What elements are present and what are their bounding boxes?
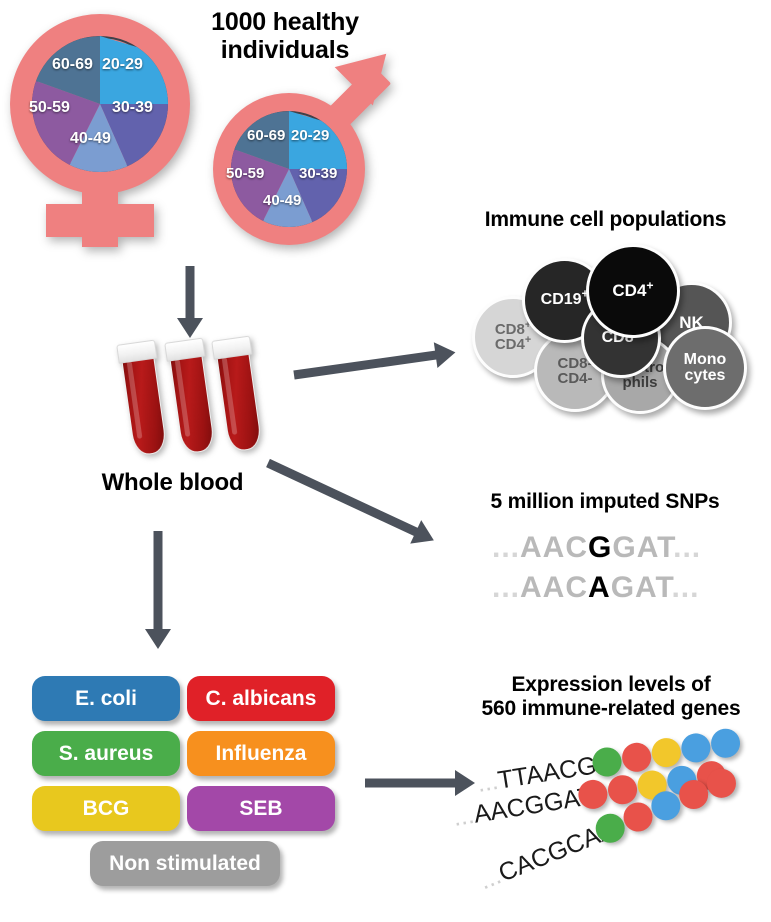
stimulus-seb[interactable]: SEB: [187, 786, 335, 831]
expression-bead: [620, 741, 653, 774]
male-symbol: 20-29 30-39 40-49 50-59 60-69: [205, 55, 420, 250]
pie-label-50-59: 50-59: [226, 165, 264, 182]
arrow-cohort-to-blood: [177, 266, 203, 338]
stimulus-s-aureus[interactable]: S. aureus: [32, 731, 180, 776]
snp-suffix: ...: [671, 571, 699, 604]
snp-sequence-row: ...AACGGAT...: [492, 531, 701, 565]
whole-blood-label: Whole blood: [80, 470, 265, 497]
cohort-title-line1: 1000 healthy: [170, 8, 400, 36]
female-symbol-crossbar: [46, 204, 154, 237]
immune-cell-label: CD19+: [541, 292, 589, 308]
immune-cell-cluster: CD8+CD4+ CD19+ CD4+ NK CD8+ Monocytes Ne…: [455, 240, 765, 415]
pie-label-20-29: 20-29: [102, 56, 143, 74]
arrow-shaft: [154, 531, 163, 631]
stimulus-c-albicans[interactable]: C. albicans: [187, 676, 335, 721]
arrow-head: [177, 318, 203, 338]
snp-prefix: ...: [492, 531, 520, 564]
expression-bead: [650, 736, 683, 769]
figure-canvas: 1000 healthy individuals 20-29 30-39 40-…: [0, 0, 771, 922]
immune-cell-cd4p: CD4+: [586, 244, 680, 338]
pie-label-40-49: 40-49: [70, 130, 111, 148]
arrow-shaft: [266, 459, 419, 537]
stimulus-non-stimulated[interactable]: Non stimulated: [90, 841, 280, 886]
snp-right: GAT: [611, 571, 672, 604]
snp-prefix: ...: [492, 571, 520, 604]
snp-variant-allele: G: [588, 531, 612, 564]
snp-sequence-row: ...AACAGAT...: [492, 571, 699, 605]
arrow-blood-to-snps: [263, 451, 446, 555]
immune-cell-monocytes: Monocytes: [663, 326, 747, 410]
stimulus-influenza[interactable]: Influenza: [187, 731, 335, 776]
arrow-shaft: [365, 779, 457, 788]
snp-left: AAC: [520, 571, 588, 604]
pie-label-30-39: 30-39: [112, 99, 153, 117]
pie-label-50-59: 50-59: [29, 99, 70, 117]
blood-tube: [214, 335, 267, 454]
arrow-shaft: [186, 266, 195, 320]
arrow-head: [434, 339, 457, 368]
female-symbol: 20-29 30-39 40-49 50-59 60-69: [8, 12, 193, 247]
pie-label-60-69: 60-69: [52, 56, 93, 74]
blood-tube: [119, 339, 172, 458]
expression-bead: [709, 727, 742, 760]
snp-right: GAT: [612, 531, 673, 564]
whole-blood-tubes: [105, 336, 265, 466]
pie-label-40-49: 40-49: [263, 192, 301, 209]
immune-populations-title: Immune cell populations: [440, 208, 771, 232]
expression-title-line2: 560 immune-related genes: [452, 697, 770, 721]
pie-label-20-29: 20-29: [291, 127, 329, 144]
snps-title: 5 million imputed SNPs: [455, 490, 755, 514]
immune-cell-label: CD4+: [612, 282, 653, 299]
stimulus-bcg[interactable]: BCG: [32, 786, 180, 831]
snp-variant-allele: A: [588, 571, 611, 604]
snp-suffix: ...: [673, 531, 701, 564]
pie-label-60-69: 60-69: [247, 127, 285, 144]
arrow-head: [410, 520, 439, 552]
expression-bead: [606, 773, 639, 806]
immune-cell-label: CD8+CD4+: [495, 322, 531, 353]
expression-title-line1: Expression levels of: [452, 673, 770, 697]
expression-strands: ...TTAACGG ...AACGGAT ...CACGCAA: [460, 740, 771, 915]
immune-cell-label: Monocytes: [684, 352, 727, 385]
expression-title: Expression levels of 560 immune-related …: [452, 673, 770, 720]
strand-sequence: ...AACGGAT: [451, 782, 595, 833]
arrow-head: [145, 629, 171, 649]
arrow-blood-to-immune: [292, 339, 459, 388]
expression-bead: [679, 731, 712, 764]
snp-sequences: ...AACGGAT... ...AACAGAT...: [470, 525, 750, 615]
arrow-blood-to-stimuli: [145, 531, 171, 651]
snp-left: AAC: [520, 531, 588, 564]
blood-tube: [167, 337, 220, 456]
stimuli-panel: E. coli C. albicans S. aureus Influenza …: [32, 676, 342, 896]
stimulus-e-coli[interactable]: E. coli: [32, 676, 180, 721]
arrow-shaft: [293, 350, 438, 379]
pie-label-30-39: 30-39: [299, 165, 337, 182]
